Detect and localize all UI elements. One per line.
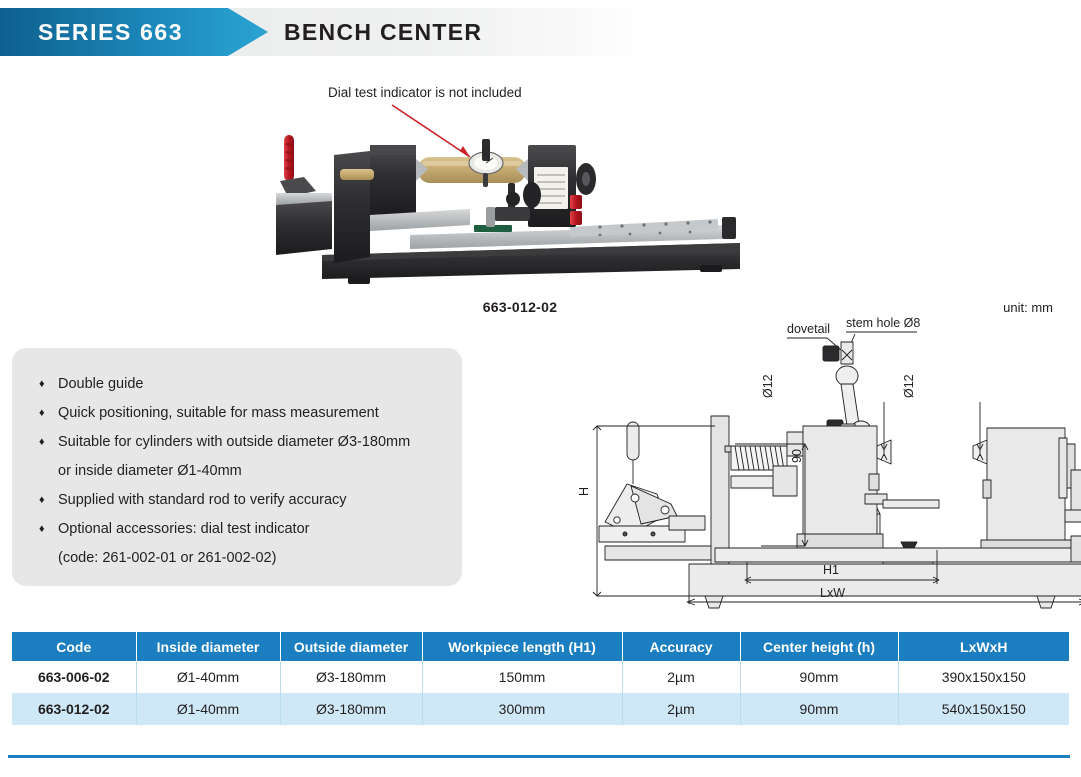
- column-header-inside-diameter: Inside diameter: [136, 632, 280, 661]
- bench-center-photo: [270, 107, 770, 295]
- diamond-bullet-icon: ♦: [39, 399, 45, 428]
- column-header-outside-diameter: Outside diameter: [280, 632, 422, 661]
- column-header-accuracy: Accuracy: [622, 632, 740, 661]
- product-photo-block: Dial test indicator is not included: [270, 85, 770, 320]
- feature-text: Double guide: [58, 376, 143, 392]
- length-width-dimension-label: LxW: [820, 586, 845, 600]
- cell-accuracy: 2µm: [622, 661, 740, 693]
- cell-workpiece-length: 150mm: [422, 661, 622, 693]
- column-header-center-height: Center height (h): [740, 632, 898, 661]
- photo-callout-text: Dial test indicator is not included: [328, 85, 522, 100]
- cell-dimensions: 540x150x150: [898, 693, 1069, 725]
- diameter-left-label: Ø12: [761, 374, 775, 398]
- specification-table: Code Inside diameter Outside diameter Wo…: [12, 632, 1069, 725]
- features-list: ♦ Double guide ♦ Quick positioning, suit…: [38, 370, 448, 573]
- column-header-workpiece-length: Workpiece length (H1): [422, 632, 622, 661]
- technical-drawing: unit: mm dovetail stem hole Ø8 Ø12 Ø12 9…: [565, 298, 1081, 610]
- list-item: ♦ Quick positioning, suitable for mass m…: [38, 399, 448, 428]
- cell-center-height: 90mm: [740, 693, 898, 725]
- table-row: 663-006-02 Ø1-40mm Ø3-180mm 150mm 2µm 90…: [12, 661, 1069, 693]
- cell-inside-diameter: Ø1-40mm: [136, 661, 280, 693]
- diamond-bullet-icon: ♦: [39, 428, 45, 457]
- list-item: ♦ Optional accessories: dial test indica…: [38, 515, 448, 544]
- features-panel: ♦ Double guide ♦ Quick positioning, suit…: [12, 348, 462, 586]
- diameter-right-label: Ø12: [902, 374, 916, 398]
- cell-outside-diameter: Ø3-180mm: [280, 661, 422, 693]
- cell-code: 663-006-02: [12, 661, 136, 693]
- diamond-bullet-icon: ♦: [39, 486, 45, 515]
- list-item: ♦ Supplied with standard rod to verify a…: [38, 486, 448, 515]
- list-item: ♦ Suitable for cylinders with outside di…: [38, 428, 448, 457]
- cell-accuracy: 2µm: [622, 693, 740, 725]
- diamond-bullet-icon: ♦: [39, 370, 45, 399]
- page-title: BENCH CENTER: [284, 19, 482, 46]
- table-row: 663-012-02 Ø1-40mm Ø3-180mm 300mm 2µm 90…: [12, 693, 1069, 725]
- footer-rule: [8, 755, 1070, 758]
- center-height-dimension-label: 90: [790, 449, 804, 463]
- dovetail-label: dovetail: [787, 322, 830, 336]
- list-item: ♦ Double guide: [38, 370, 448, 399]
- stem-hole-label: stem hole Ø8: [846, 316, 920, 330]
- feature-text: Suitable for cylinders with outside diam…: [58, 434, 410, 450]
- cell-code: 663-012-02: [12, 693, 136, 725]
- diamond-bullet-icon: ♦: [39, 515, 45, 544]
- cell-outside-diameter: Ø3-180mm: [280, 693, 422, 725]
- feature-text: Quick positioning, suitable for mass mea…: [58, 405, 379, 421]
- cell-center-height: 90mm: [740, 661, 898, 693]
- series-label: SERIES 663: [38, 19, 183, 46]
- column-header-dimensions: LxWxH: [898, 632, 1069, 661]
- table-header-row: Code Inside diameter Outside diameter Wo…: [12, 632, 1069, 661]
- feature-text: Supplied with standard rod to verify acc…: [58, 492, 347, 508]
- feature-text-continuation: (code: 261-002-01 or 261-002-02): [38, 544, 448, 573]
- cell-inside-diameter: Ø1-40mm: [136, 693, 280, 725]
- workpiece-length-dimension-label: H1: [823, 563, 839, 577]
- cell-dimensions: 390x150x150: [898, 661, 1069, 693]
- feature-text-continuation: or inside diameter Ø1-40mm: [38, 457, 448, 486]
- feature-text: Optional accessories: dial test indicato…: [58, 521, 309, 537]
- column-header-code: Code: [12, 632, 136, 661]
- height-dimension-label: H: [577, 487, 591, 496]
- unit-label: unit: mm: [1003, 300, 1053, 315]
- page-header: SERIES 663 BENCH CENTER: [0, 8, 1081, 56]
- cell-workpiece-length: 300mm: [422, 693, 622, 725]
